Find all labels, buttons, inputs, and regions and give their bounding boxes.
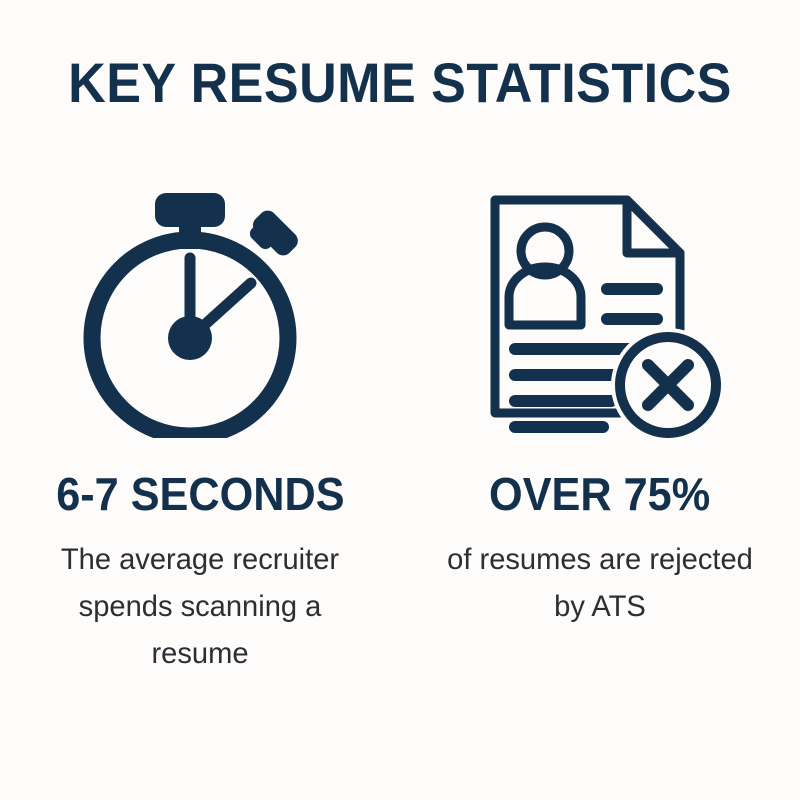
infographic-canvas: KEY RESUME STATISTICS [0,0,800,800]
stat-body-seconds: The average recruiter spends scanning a … [40,536,360,677]
stopwatch-icon [75,173,325,438]
stat-body-rejected: of resumes are rejected by ATS [445,536,755,630]
resume-rejected-icon-wrap [470,170,730,440]
stat-card-rejected: OVER 75% of resumes are rejected by ATS [400,170,800,630]
page-title: KEY RESUME STATISTICS [28,52,772,114]
stat-heading-rejected: OVER 75% [489,468,710,520]
resume-rejected-icon [475,173,725,438]
stopwatch-icon-wrap [70,170,330,440]
stat-card-seconds: 6-7 SECONDS The average recruiter spends… [0,170,400,677]
document-info-lines [601,283,663,325]
stat-heading-seconds: 6-7 SECONDS [56,468,344,520]
stats-row: 6-7 SECONDS The average recruiter spends… [0,170,800,677]
